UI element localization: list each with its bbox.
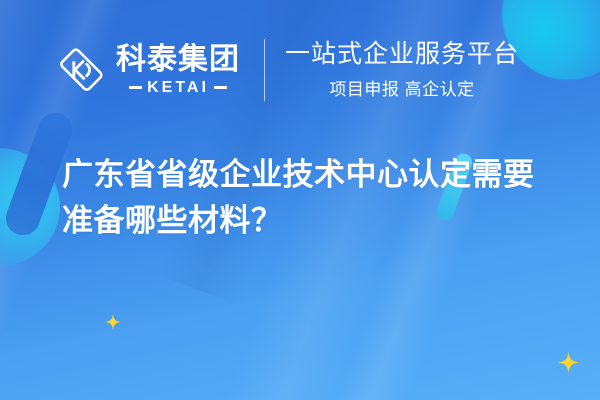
logo-rule-left (129, 86, 142, 89)
headline-block: 广东省省级企业技术中心认定需要 准备哪些材料？ (62, 152, 562, 244)
headline-line-1: 广东省省级企业技术中心认定需要 (62, 152, 562, 198)
header-tagline: 一站式企业服务平台 项目申报 高企认定 (285, 40, 519, 101)
sparkle-star-icon (105, 314, 121, 330)
brand-name-en-row: KETAI (129, 80, 227, 96)
headline-line-2: 准备哪些材料？ (62, 198, 562, 244)
brand-logo-text: 科泰集团 KETAI (116, 45, 240, 96)
sparkle-star-icon (558, 352, 579, 373)
promotional-banner: 科泰集团 KETAI 一站式企业服务平台 项目申报 高企认定 广东省省级企业技术… (0, 0, 600, 400)
tagline-main: 一站式企业服务平台 (285, 40, 519, 70)
brand-name-cn: 科泰集团 (116, 45, 240, 75)
tagline-sub: 项目申报 高企认定 (285, 75, 519, 100)
ketai-diamond-kt-logo-icon (58, 47, 104, 93)
brand-name-en: KETAI (147, 80, 209, 96)
header-divider (264, 39, 265, 101)
brand-logo[interactable]: 科泰集团 KETAI (58, 45, 240, 96)
logo-rule-right (214, 86, 227, 89)
banner-header: 科泰集团 KETAI 一站式企业服务平台 项目申报 高企认定 (0, 0, 600, 140)
